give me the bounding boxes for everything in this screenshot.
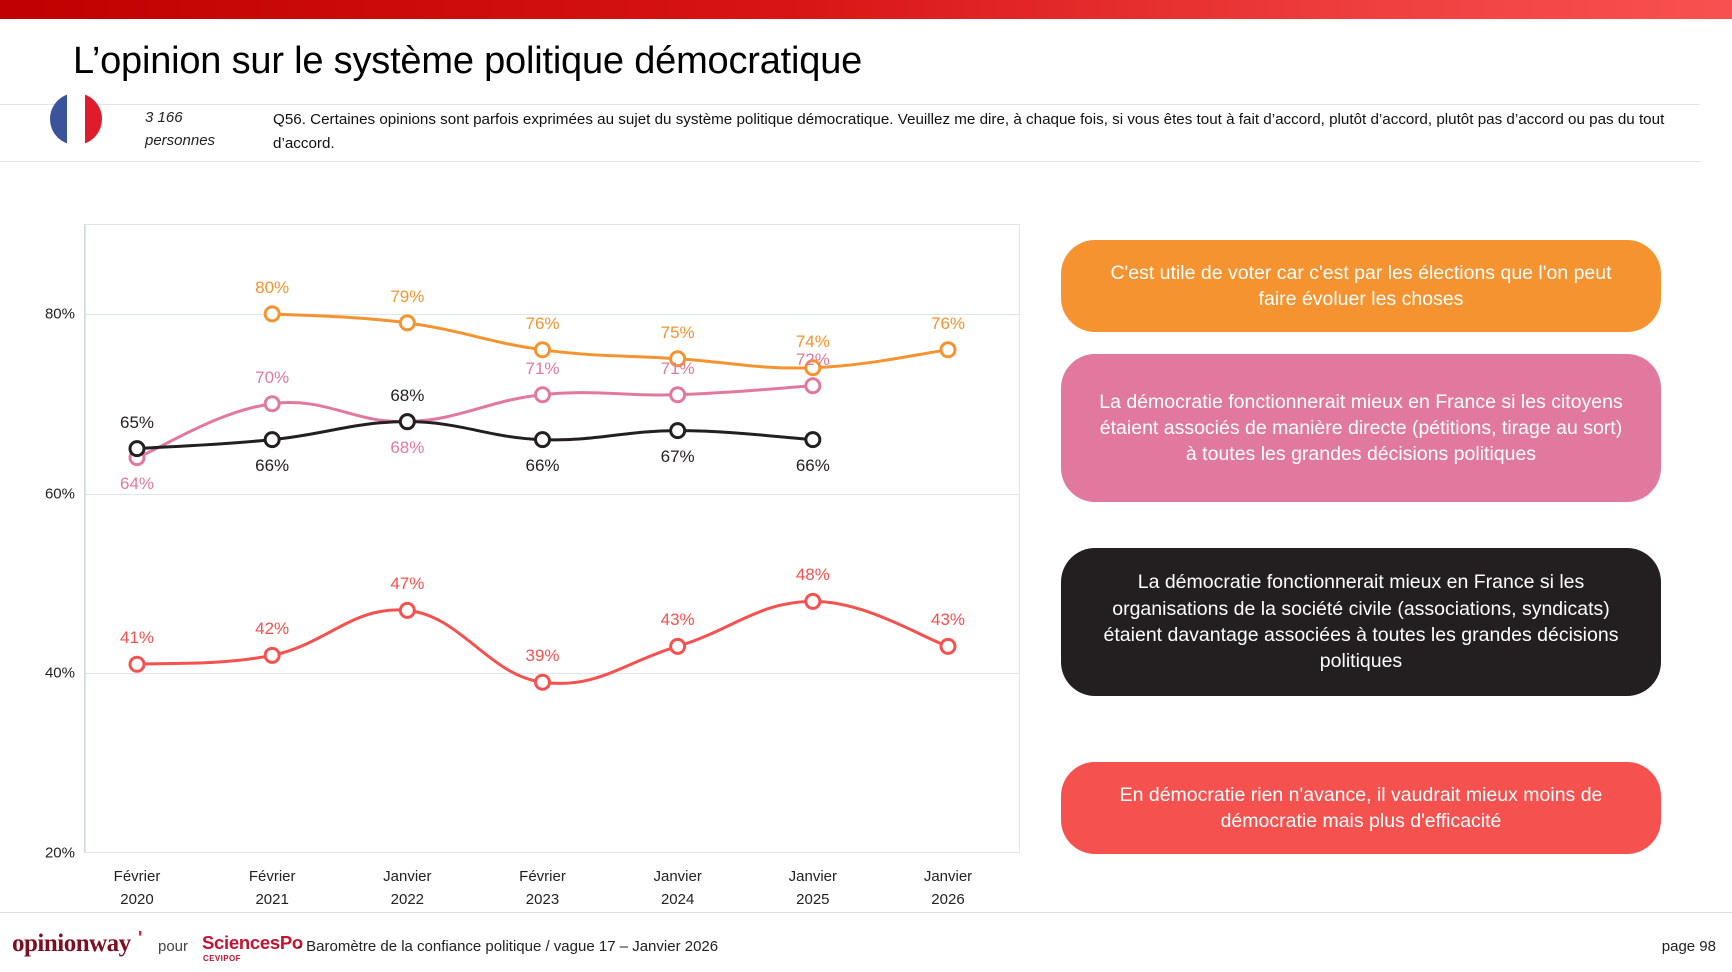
footer: opinionway ' pour SciencesPo CEVIPOF - B… bbox=[0, 920, 1732, 972]
data-point-label: 76% bbox=[931, 314, 965, 334]
data-point-marker[interactable] bbox=[536, 388, 550, 402]
flag-white-stripe bbox=[67, 93, 84, 145]
sample-size-count: 3 166 bbox=[145, 107, 245, 130]
slide-root: L’opinion sur le système politique démoc… bbox=[0, 0, 1732, 972]
data-point-marker[interactable] bbox=[671, 424, 685, 438]
footer-pour-label: pour bbox=[158, 938, 188, 955]
data-point-label: 39% bbox=[525, 646, 559, 666]
x-axis-tick-label: Février2023 bbox=[519, 866, 566, 911]
data-point-label: 71% bbox=[661, 359, 695, 379]
data-point-marker[interactable] bbox=[265, 648, 279, 662]
data-point-marker[interactable] bbox=[806, 433, 820, 447]
data-point-marker[interactable] bbox=[265, 433, 279, 447]
data-point-marker[interactable] bbox=[400, 603, 414, 617]
data-point-marker[interactable] bbox=[400, 316, 414, 330]
data-point-label: 66% bbox=[796, 456, 830, 476]
opinionway-logo: opinionway bbox=[12, 930, 131, 958]
data-point-label: 41% bbox=[120, 628, 154, 648]
data-point-label: 64% bbox=[120, 474, 154, 494]
france-flag-icon bbox=[50, 93, 102, 145]
y-axis-tick-label: 80% bbox=[15, 305, 75, 322]
data-point-label: 66% bbox=[255, 456, 289, 476]
data-point-label: 79% bbox=[390, 287, 424, 307]
data-point-marker[interactable] bbox=[130, 657, 144, 671]
legend-callout-citoyens[interactable]: La démocratie fonctionnerait mieux en Fr… bbox=[1061, 354, 1661, 502]
legend-callout-voter[interactable]: C'est utile de voter car c'est par les é… bbox=[1061, 240, 1661, 332]
series-line bbox=[272, 314, 948, 368]
page-number: page 98 bbox=[1662, 938, 1716, 955]
data-point-label: 67% bbox=[661, 447, 695, 467]
legend-callout-efficacite[interactable]: En démocratie rien n'avance, il vaudrait… bbox=[1061, 762, 1661, 854]
sciencespo-logo: SciencesPo bbox=[202, 932, 303, 954]
series-line bbox=[137, 422, 813, 449]
legend-callout-voter-label: C'est utile de voter car c'est par les é… bbox=[1095, 260, 1627, 313]
series-line bbox=[137, 386, 813, 458]
y-axis-tick-label: 20% bbox=[15, 845, 75, 862]
data-point-label: 48% bbox=[796, 565, 830, 585]
question-bar-top-rule bbox=[0, 104, 1700, 105]
footer-reference: - Baromètre de la confiance politique / … bbox=[297, 938, 718, 955]
x-axis-tick-label: Janvier2026 bbox=[924, 866, 972, 911]
data-point-marker[interactable] bbox=[536, 433, 550, 447]
legend-callout-societe-civile[interactable]: La démocratie fonctionnerait mieux en Fr… bbox=[1061, 548, 1661, 696]
flag-red-stripe bbox=[85, 93, 102, 145]
flag-blue-stripe bbox=[50, 93, 67, 145]
y-axis-ticks: 80%60%40%20% bbox=[13, 224, 75, 853]
footer-rule bbox=[0, 912, 1732, 913]
question-bar: 3 166 personnes Q56. Certaines opinions … bbox=[0, 104, 1700, 162]
data-point-marker[interactable] bbox=[265, 307, 279, 321]
question-text: Q56. Certaines opinions sont parfois exp… bbox=[273, 108, 1673, 155]
data-point-label: 70% bbox=[255, 368, 289, 388]
data-point-label: 47% bbox=[390, 574, 424, 594]
data-point-label: 80% bbox=[255, 278, 289, 298]
data-point-marker[interactable] bbox=[130, 442, 144, 456]
x-axis-tick-label: Février2021 bbox=[249, 866, 296, 911]
data-point-label: 68% bbox=[390, 386, 424, 406]
data-point-label: 43% bbox=[931, 610, 965, 630]
x-axis-tick-label: Janvier2024 bbox=[653, 866, 701, 911]
sample-size: 3 166 personnes bbox=[145, 107, 245, 152]
data-point-label: 75% bbox=[661, 323, 695, 343]
data-point-marker[interactable] bbox=[536, 675, 550, 689]
data-point-label: 65% bbox=[120, 413, 154, 433]
x-axis-labels: Février2020Février2021Janvier2022Février… bbox=[85, 866, 1020, 926]
page-title: L’opinion sur le système politique démoc… bbox=[73, 40, 862, 83]
data-point-label: 42% bbox=[255, 619, 289, 639]
top-accent-band bbox=[0, 0, 1732, 19]
data-point-label: 66% bbox=[525, 456, 559, 476]
series-line bbox=[137, 601, 948, 683]
data-point-marker[interactable] bbox=[806, 594, 820, 608]
y-axis-tick-label: 60% bbox=[15, 485, 75, 502]
data-point-marker[interactable] bbox=[941, 343, 955, 357]
x-axis-tick-label: Janvier2025 bbox=[789, 866, 837, 911]
data-point-marker[interactable] bbox=[806, 379, 820, 393]
data-point-marker[interactable] bbox=[671, 388, 685, 402]
data-point-label: 71% bbox=[525, 359, 559, 379]
x-axis-tick-label: Février2020 bbox=[114, 866, 161, 911]
legend-callout-citoyens-label: La démocratie fonctionnerait mieux en Fr… bbox=[1095, 389, 1627, 468]
data-point-marker[interactable] bbox=[265, 397, 279, 411]
data-point-label: 72% bbox=[796, 350, 830, 370]
y-axis-tick-label: 40% bbox=[15, 665, 75, 682]
data-point-label: 68% bbox=[390, 438, 424, 458]
legend-callout-societe-civile-label: La démocratie fonctionnerait mieux en Fr… bbox=[1095, 569, 1627, 674]
line-chart: 80%60%40%20% 80%79%76%75%74%76%64%70%68%… bbox=[85, 224, 1020, 853]
question-bar-bottom-rule bbox=[0, 161, 1700, 162]
cevipof-logo: CEVIPOF bbox=[203, 954, 241, 963]
opinionway-accent-icon: ' bbox=[138, 928, 142, 949]
sample-size-unit: personnes bbox=[145, 130, 245, 153]
data-point-marker[interactable] bbox=[400, 415, 414, 429]
data-point-label: 76% bbox=[525, 314, 559, 334]
data-point-label: 43% bbox=[661, 610, 695, 630]
x-axis-tick-label: Janvier2022 bbox=[383, 866, 431, 911]
legend-callout-efficacite-label: En démocratie rien n'avance, il vaudrait… bbox=[1095, 782, 1627, 835]
data-point-marker[interactable] bbox=[941, 639, 955, 653]
data-point-marker[interactable] bbox=[536, 343, 550, 357]
data-point-marker[interactable] bbox=[671, 639, 685, 653]
